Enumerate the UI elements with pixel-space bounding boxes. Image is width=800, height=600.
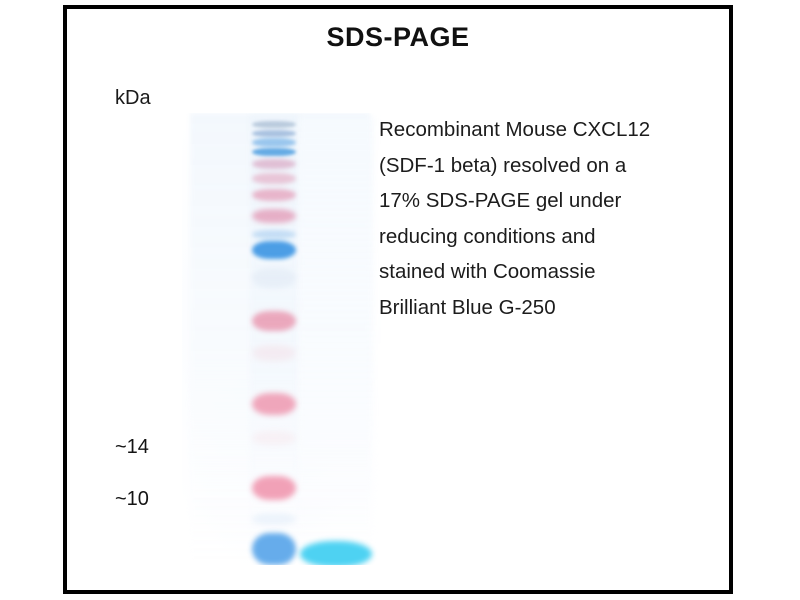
ladder-band-12 [252, 311, 296, 331]
ladder-band-10 [252, 241, 296, 259]
molecular-weight-unit-label: kDa [115, 87, 151, 110]
figure-description: Recombinant Mouse CXCL12 (SDF-1 beta) re… [379, 112, 654, 325]
ladder-band-13 [252, 345, 296, 361]
sample-band-cxcl12 [300, 541, 372, 565]
ladder-band-4 [252, 148, 296, 156]
page-title: SDS-PAGE [67, 22, 729, 53]
ladder-band-5 [252, 159, 296, 169]
mw-label-14: ~14 [115, 436, 149, 459]
figure-canvas: SDS-PAGE kDa ~14~10 Recombinant Mouse CX… [0, 0, 800, 600]
ladder-band-15 [252, 431, 296, 445]
ladder-band-8 [252, 209, 296, 223]
gel-image [182, 113, 382, 565]
ladder-band-18 [252, 533, 296, 565]
ladder-band-3 [252, 138, 296, 147]
ladder-band-7 [252, 189, 296, 201]
ladder-band-16 [252, 476, 296, 500]
ladder-band-11 [252, 268, 296, 288]
sample-lane [298, 117, 374, 557]
ladder-band-6 [252, 173, 296, 184]
figure-border-frame: SDS-PAGE kDa ~14~10 Recombinant Mouse CX… [63, 5, 733, 594]
ladder-band-2 [252, 130, 296, 137]
ladder-band-14 [252, 393, 296, 415]
ladder-band-1 [252, 121, 296, 128]
ladder-band-17 [252, 513, 296, 525]
ladder-band-9 [252, 230, 296, 239]
mw-label-10: ~10 [115, 488, 149, 511]
